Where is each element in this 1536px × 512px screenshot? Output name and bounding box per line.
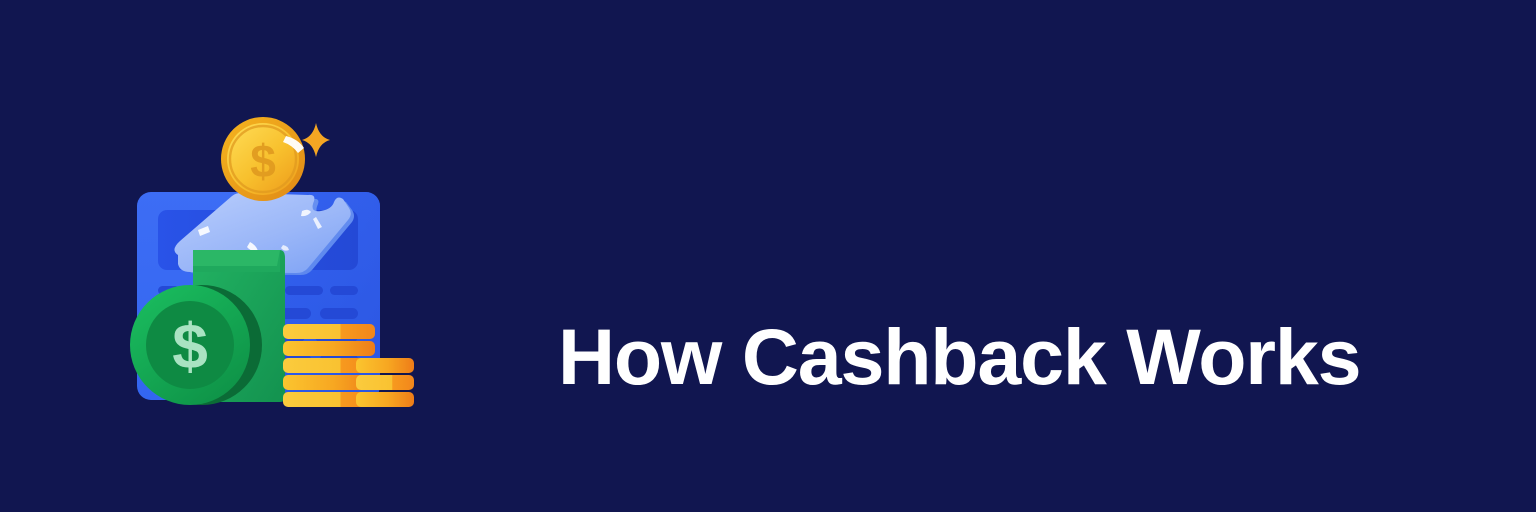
coin-stack-right-coin-3 (356, 375, 414, 390)
receipt-line-dash-5 (330, 286, 358, 295)
cashback-illustration-svg: $ $ (80, 100, 420, 410)
coin-stack-left-coin-6 (283, 324, 375, 339)
sparkle-shape (302, 123, 330, 157)
headline-line-1: How Cashback Works (558, 309, 1418, 405)
banknote-fold-highlight (193, 250, 280, 266)
receipt-line-3 (320, 308, 358, 319)
coin-stack-right-coin-4 (356, 358, 414, 373)
gold-coin: $ (221, 117, 305, 201)
page-title: How Cashback Works on Live Betting Sites (558, 213, 1418, 512)
coin-stack-right (356, 358, 414, 407)
cashback-illustration: $ $ (80, 100, 420, 410)
coin-stack-left-coin-5 (283, 341, 375, 356)
gold-coin-dollar-symbol: $ (250, 135, 276, 187)
green-dollar-coin: $ (130, 285, 262, 405)
receipt-line-dash-4 (285, 286, 323, 295)
headline-line-2: on Live Betting Sites (558, 501, 1418, 512)
coin-stack-right-coin-2 (356, 392, 414, 407)
green-coin-dollar-symbol: $ (172, 310, 208, 382)
sparkle-icon (302, 123, 330, 157)
hero-banner: $ $ (0, 0, 1536, 512)
